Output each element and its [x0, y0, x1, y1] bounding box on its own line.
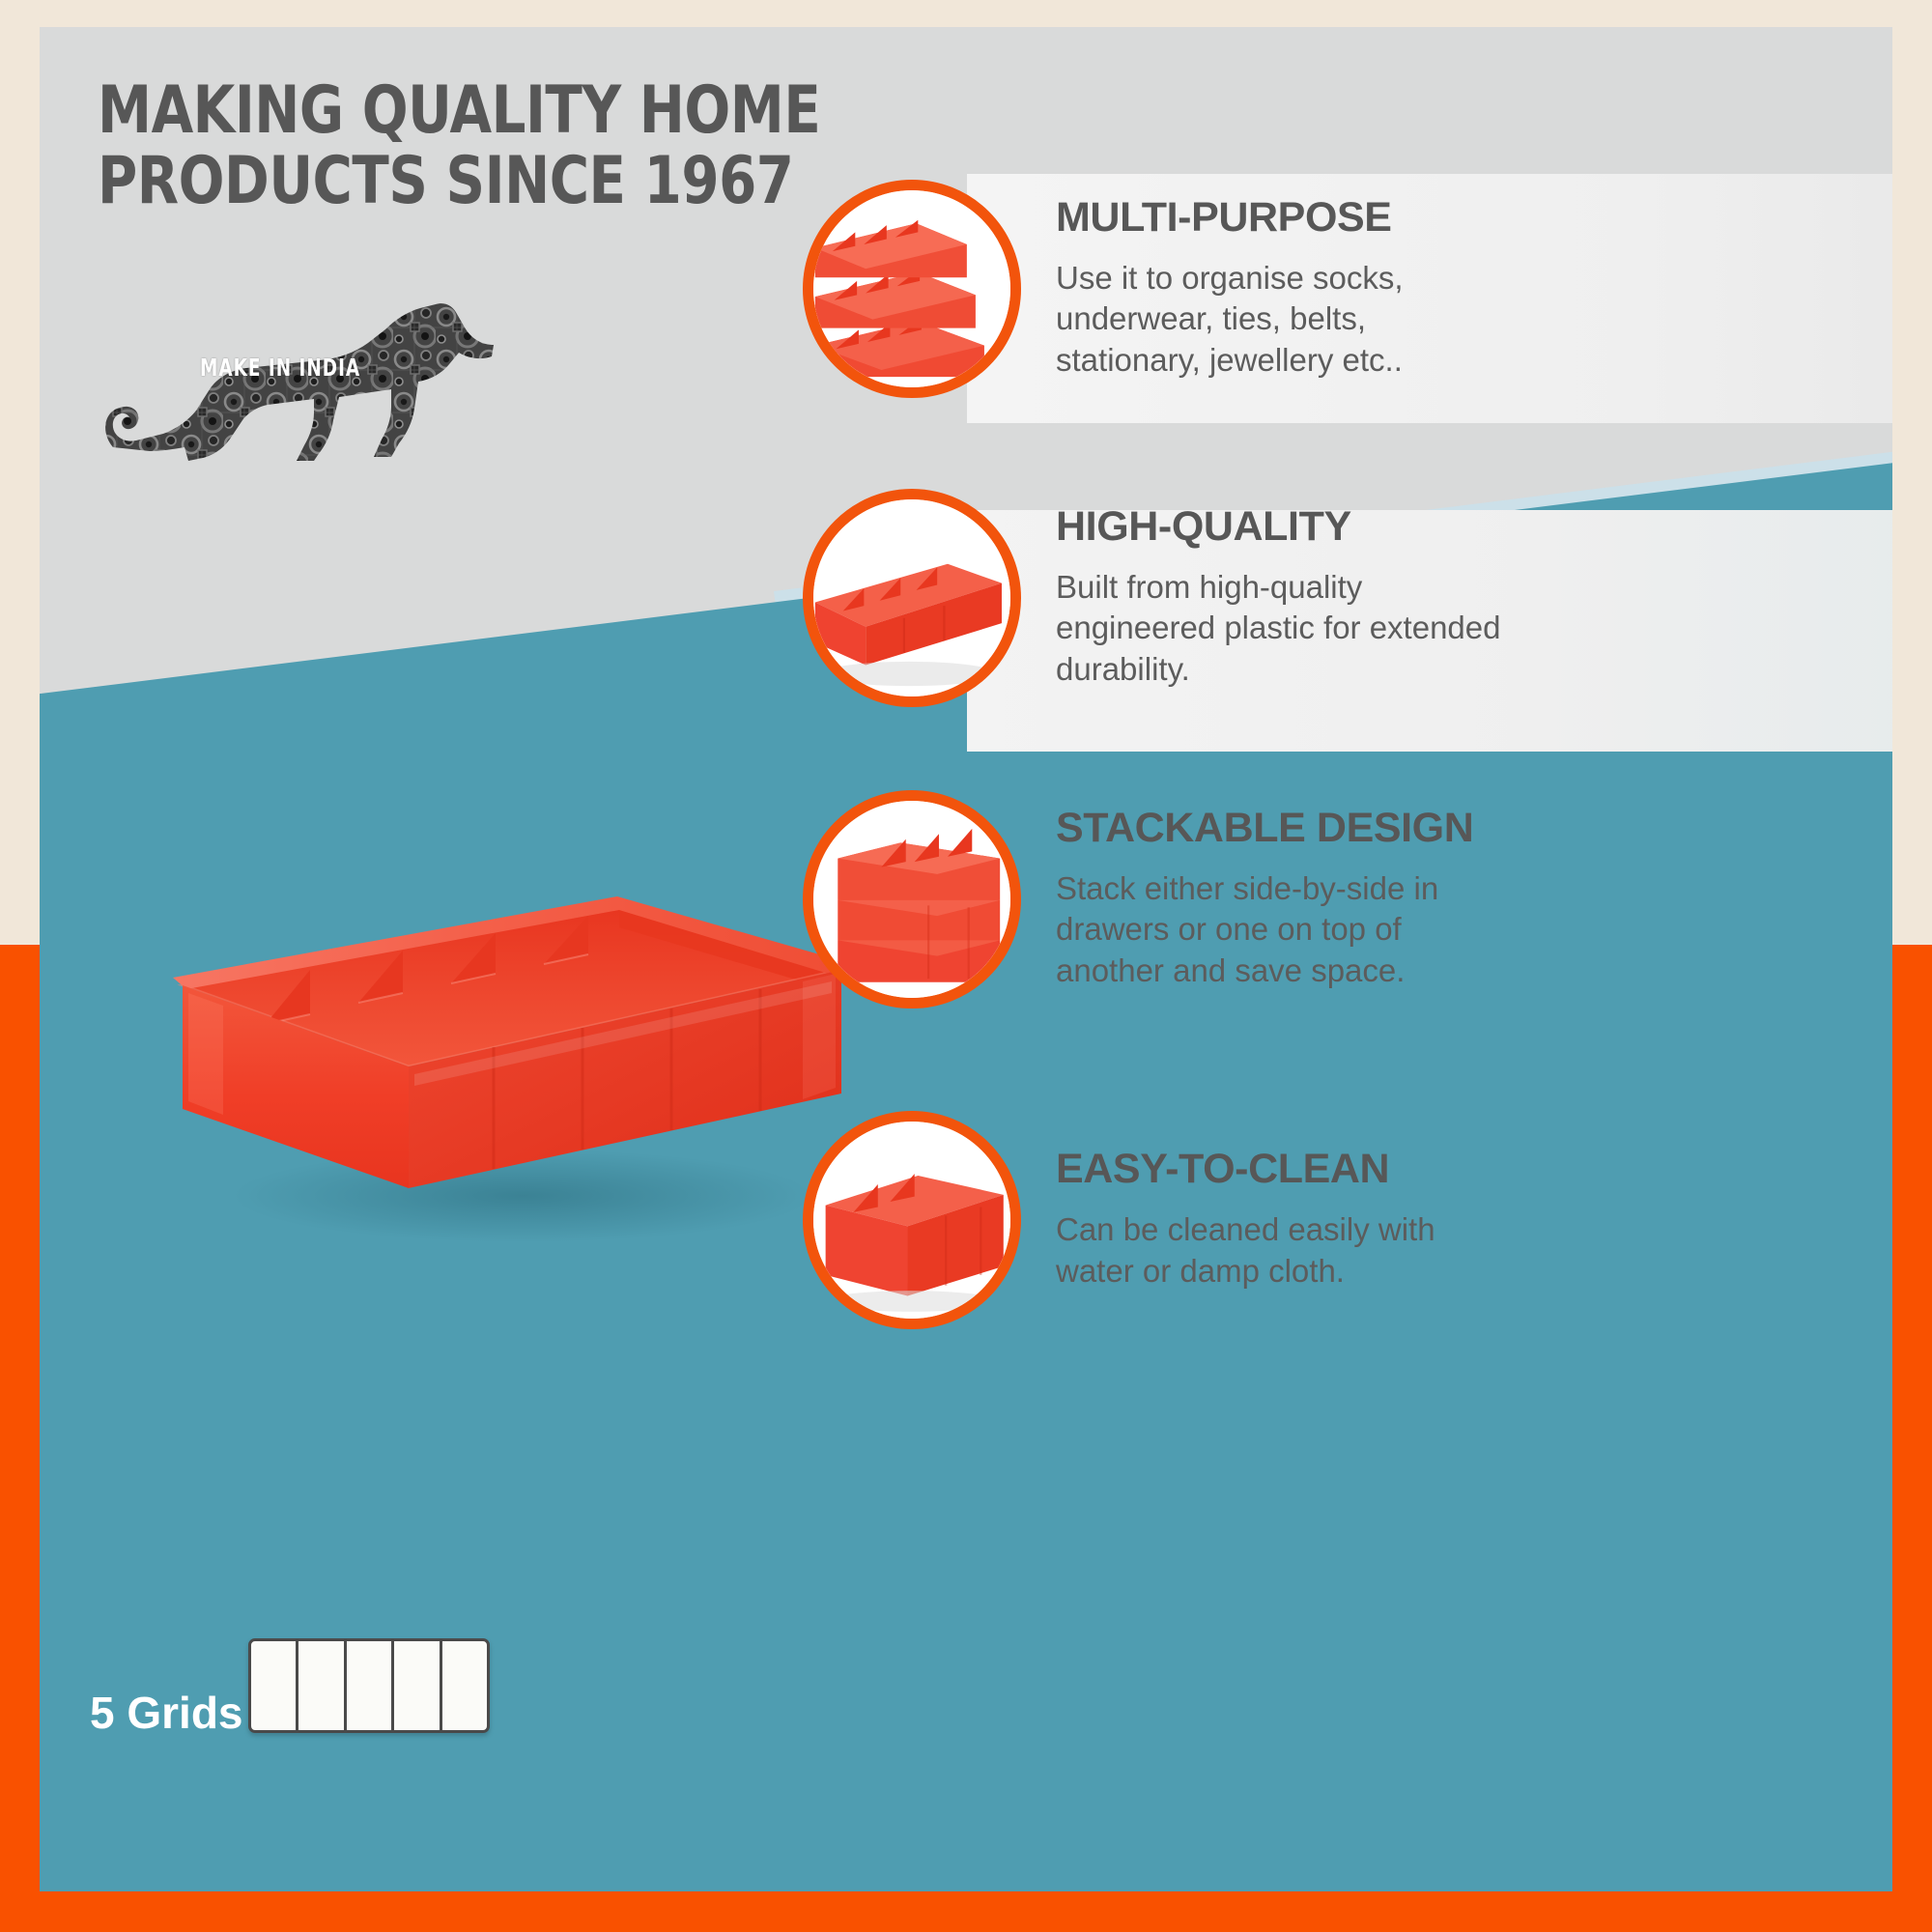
headline-line-2: PRODUCTS SINCE 1967 — [98, 146, 880, 216]
grid-cell — [394, 1641, 441, 1730]
feature-title: EASY-TO-CLEAN — [1056, 1149, 1510, 1190]
feature-card-stackable-design: STACKABLE DESIGN Stack either side-by-si… — [803, 790, 1510, 1009]
feature-text-multi-purpose: MULTI-PURPOSE Use it to organise socks, … — [1056, 197, 1510, 381]
frame-band-left — [0, 945, 40, 1932]
grid-diagram-icon — [248, 1638, 490, 1733]
feature-body: Stack either side-by-side in drawers or … — [1056, 868, 1510, 991]
feature-title: MULTI-PURPOSE — [1056, 197, 1510, 239]
page-title: MAKING QUALITY HOME PRODUCTS SINCE 1967 — [98, 75, 880, 217]
feature-image-easy-to-clean — [803, 1111, 1021, 1329]
organiser-front-view-icon — [813, 1122, 1010, 1319]
make-in-india-logo: MAKE IN INDIA — [96, 264, 501, 476]
feature-text-easy-to-clean: EASY-TO-CLEAN Can be cleaned easily with… — [1056, 1149, 1510, 1291]
infographic-canvas: MAKING QUALITY HOME PRODUCTS SINCE 1967 — [0, 0, 1932, 1932]
feature-body: Use it to organise socks, underwear, tie… — [1056, 258, 1510, 381]
feature-image-multi-purpose — [803, 180, 1021, 398]
headline-line-1: MAKING QUALITY HOME — [98, 75, 880, 146]
grid-cell — [442, 1641, 487, 1730]
feature-text-stackable-design: STACKABLE DESIGN Stack either side-by-si… — [1056, 808, 1510, 991]
frame-band-right — [1892, 945, 1932, 1932]
grid-cell — [251, 1641, 298, 1730]
content-panel: MAKING QUALITY HOME PRODUCTS SINCE 1967 — [40, 27, 1892, 1891]
grid-cell — [298, 1641, 346, 1730]
feature-image-high-quality — [803, 489, 1021, 707]
feature-body: Can be cleaned easily with water or damp… — [1056, 1209, 1510, 1291]
feature-title: HIGH-QUALITY — [1056, 506, 1510, 548]
grids-count-label: 5 Grids — [90, 1687, 243, 1739]
feature-title: STACKABLE DESIGN — [1056, 808, 1510, 849]
product-hero-image — [165, 877, 861, 1264]
single-organiser-angled-icon — [813, 499, 1010, 696]
feature-image-stackable-design — [803, 790, 1021, 1009]
feature-card-easy-to-clean: EASY-TO-CLEAN Can be cleaned easily with… — [803, 1111, 1510, 1329]
feature-card-high-quality: HIGH-QUALITY Built from high-quality eng… — [803, 489, 1510, 707]
grid-cell — [347, 1641, 394, 1730]
feature-text-high-quality: HIGH-QUALITY Built from high-quality eng… — [1056, 506, 1510, 690]
three-boxes-stacked-icon — [813, 801, 1010, 998]
feature-body: Built from high-quality engineered plast… — [1056, 567, 1510, 690]
make-in-india-label: MAKE IN INDIA — [200, 354, 360, 382]
feature-card-multi-purpose: MULTI-PURPOSE Use it to organise socks, … — [803, 180, 1510, 398]
red-organiser-box-graphic — [165, 877, 861, 1264]
three-stacked-organisers-icon — [813, 190, 1010, 387]
frame-band-bottom — [0, 1891, 1932, 1932]
